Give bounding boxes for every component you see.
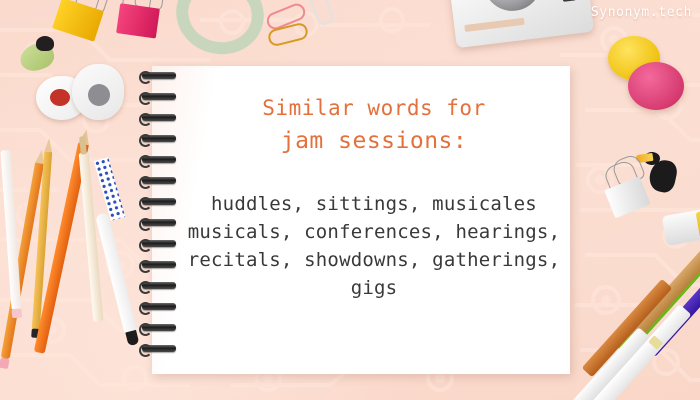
macaron-pink — [628, 62, 684, 110]
spiral-ring — [142, 324, 176, 331]
spiral-ring — [142, 345, 176, 352]
spiral-ring — [142, 114, 176, 121]
spiral-ring — [142, 219, 176, 226]
spiral-ring — [142, 156, 176, 163]
spiral-ring — [142, 93, 176, 100]
binder-clip-pink — [116, 0, 163, 43]
page-title-line1: Similar words for — [262, 96, 485, 120]
bird-figure — [20, 36, 56, 70]
screenshot-root: Similar words for jam sessions: huddles,… — [0, 0, 700, 400]
synonym-list: huddles, sittings, musicales musicals, c… — [178, 190, 570, 302]
page-title-headword: jam sessions: — [281, 128, 468, 154]
spiral-ring — [142, 72, 176, 79]
spiral-ring — [142, 282, 176, 289]
spiral-binding — [142, 66, 178, 374]
spiral-ring — [142, 177, 176, 184]
spiral-ring — [142, 240, 176, 247]
stone-gray — [72, 64, 124, 120]
spiral-ring — [142, 198, 176, 205]
spiral-ring — [142, 303, 176, 310]
spiral-ring — [142, 261, 176, 268]
spiral-ring — [142, 135, 176, 142]
site-watermark: Synonym.tech — [591, 5, 692, 20]
page-content: Similar words for jam sessions: huddles,… — [178, 66, 570, 374]
